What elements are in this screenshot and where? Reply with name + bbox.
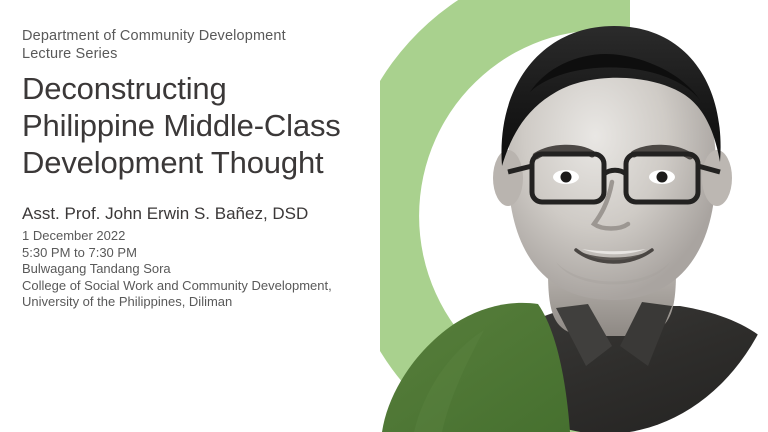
lecture-announcement-slide: Department of Community Development Lect… xyxy=(0,0,768,432)
portrait-graphic xyxy=(380,0,768,432)
event-college: College of Social Work and Community Dev… xyxy=(22,278,392,295)
pupil-left xyxy=(561,172,572,183)
speaker-name: Asst. Prof. John Erwin S. Bañez, DSD xyxy=(22,203,392,224)
page-title: Deconstructing Philippine Middle-Class D… xyxy=(22,70,392,181)
ear-left xyxy=(493,150,523,206)
event-date: 1 December 2022 xyxy=(22,228,392,245)
event-details: 1 December 2022 5:30 PM to 7:30 PM Bulwa… xyxy=(22,228,392,311)
event-university: University of the Philippines, Diliman xyxy=(22,294,392,311)
graphic-canvas xyxy=(380,0,768,432)
event-venue: Bulwagang Tandang Sora xyxy=(22,261,392,278)
pupil-right xyxy=(657,172,668,183)
event-time: 5:30 PM to 7:30 PM xyxy=(22,245,392,262)
ear-right xyxy=(702,150,732,206)
text-panel: Department of Community Development Lect… xyxy=(22,28,392,311)
series-eyebrow: Department of Community Development Lect… xyxy=(22,28,392,63)
